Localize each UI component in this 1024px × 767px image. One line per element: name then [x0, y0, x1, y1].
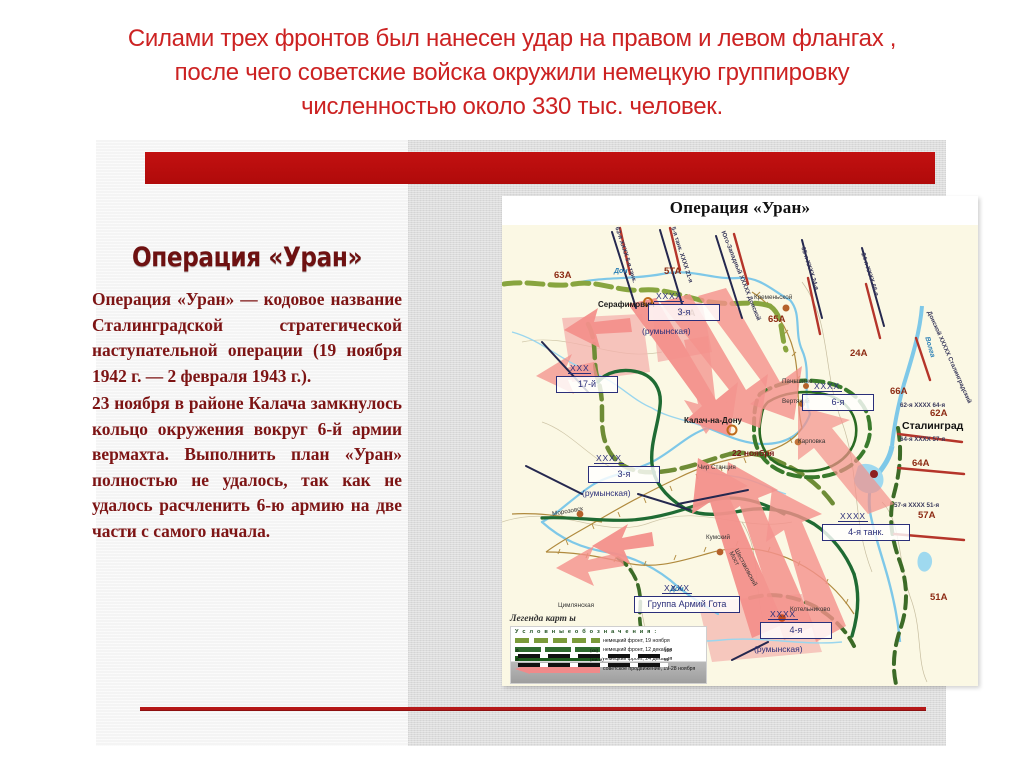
unit-rank-7: ХХХХ	[768, 610, 798, 620]
army-label-5ta: 5ТА	[664, 266, 681, 277]
unit-rank-4: ХХХХ	[812, 382, 842, 392]
river-don-north: Дон	[614, 268, 628, 275]
left-heading: Операция «Уран»	[110, 242, 383, 273]
city-karpovka: Карповка	[798, 438, 825, 445]
city-chir-stanitsa: Чир Станция	[698, 464, 736, 471]
left-paragraph-2: 23 ноября в районе Калача замкнулось кол…	[92, 391, 402, 544]
map-scale-bar: 0 (км) 100 0 (мили) 60	[512, 651, 692, 673]
slide-header: Силами трех фронтов был нанесен удар на …	[50, 22, 974, 124]
header-line-2: после чего советские войска окружили нем…	[50, 56, 974, 90]
left-text-column: Операция «Уран» Операция «Уран» — кодово…	[88, 242, 406, 544]
unit-rank-6: ХХХХ	[662, 584, 692, 594]
army-label-62a: 62А	[930, 408, 947, 419]
army-label-65a: 65А	[768, 314, 785, 325]
city-stalingrad: Сталинград	[902, 420, 963, 432]
scale-km-unit: (км)	[590, 648, 598, 653]
city-tsimlyanskaya: Цимлянская	[558, 602, 594, 609]
unit-sub-1: (румынская)	[642, 326, 691, 336]
legend-text-1: немецкий фронт, 19 ноября	[603, 638, 670, 644]
slide-root: Силами трех фронтов был нанесен удар на …	[0, 0, 1024, 767]
legend-title: У с л о в н ы е о б о з н а ч е н и я :	[511, 627, 706, 636]
scale-mi-max: 60	[664, 657, 669, 662]
scale-row-mi: 0 (мили) 60	[512, 660, 692, 669]
left-body-text: Операция «Уран» — кодовое название Стали…	[88, 287, 406, 544]
scale-km-min: 0	[516, 648, 519, 653]
unit-name-2: 17-й	[556, 376, 618, 393]
army-label-57a: 57А	[918, 510, 935, 521]
unit-name-3: 3-я	[588, 466, 660, 483]
unit-name-7: 4-я	[760, 622, 832, 639]
city-kalach-na-donu: Калач-на-Дону	[684, 416, 742, 425]
legend-row-1: немецкий фронт, 19 ноября	[511, 636, 706, 645]
scale-km-max: 100	[664, 648, 672, 653]
unit-rank-1: ХХХХ	[654, 292, 684, 302]
front-boundary-57a-51a: 57-я ХХХХ 51-я	[894, 502, 939, 509]
unit-name-4: 6-я	[802, 394, 874, 411]
scale-mi-min: 0	[516, 657, 519, 662]
unit-sub-7: (румынская)	[754, 644, 803, 654]
operation-uranus-map: Операция «Уран»	[502, 196, 978, 686]
red-banner	[145, 152, 935, 184]
unit-name-6: Группа Армий Гота	[634, 596, 740, 613]
unit-name-5: 4-я танк.	[822, 524, 910, 541]
unit-name-1: 3-я	[648, 304, 720, 321]
army-label-64a: 64А	[912, 458, 929, 469]
front-boundary-62a-64a: 62-я ХХХХ 64-я	[900, 402, 945, 409]
header-line-1: Силами трех фронтов был нанесен удар на …	[50, 22, 974, 56]
unit-rank-5: ХХХХ	[838, 512, 868, 522]
legend-swatch-front-19-nov-icon	[515, 638, 600, 643]
left-paragraph-1: Операция «Уран» — кодовое название Стали…	[92, 287, 402, 389]
city-panshino: Паньшино	[782, 378, 812, 385]
legend-caption: Легенда карт ы	[510, 614, 576, 624]
front-boundary-64a-57a: 64-я ХХХХ 57-я	[900, 436, 945, 443]
date-22-november: 22 ноября	[732, 448, 774, 458]
scale-mi-unit: (мили)	[590, 657, 604, 662]
map-title: Операция «Уран»	[502, 196, 978, 225]
army-label-66a: 66А	[890, 386, 907, 397]
unit-sub-3: (румынская)	[582, 488, 631, 498]
army-label-24a: 24А	[850, 348, 867, 359]
bottom-red-rule	[140, 707, 926, 711]
city-kumskiy: Кумский	[706, 534, 730, 541]
city-kremenskoy: Кременьской	[754, 294, 792, 301]
unit-rank-2: ХХХ	[568, 364, 591, 374]
unit-rank-3: ХХХХ	[594, 454, 624, 464]
city-serafimovich: Серафимович	[598, 300, 655, 309]
army-label-51a: 51А	[930, 592, 947, 603]
header-line-3: численностью около 330 тыс. человек.	[50, 90, 974, 124]
army-label-63a: 63А	[554, 270, 571, 281]
